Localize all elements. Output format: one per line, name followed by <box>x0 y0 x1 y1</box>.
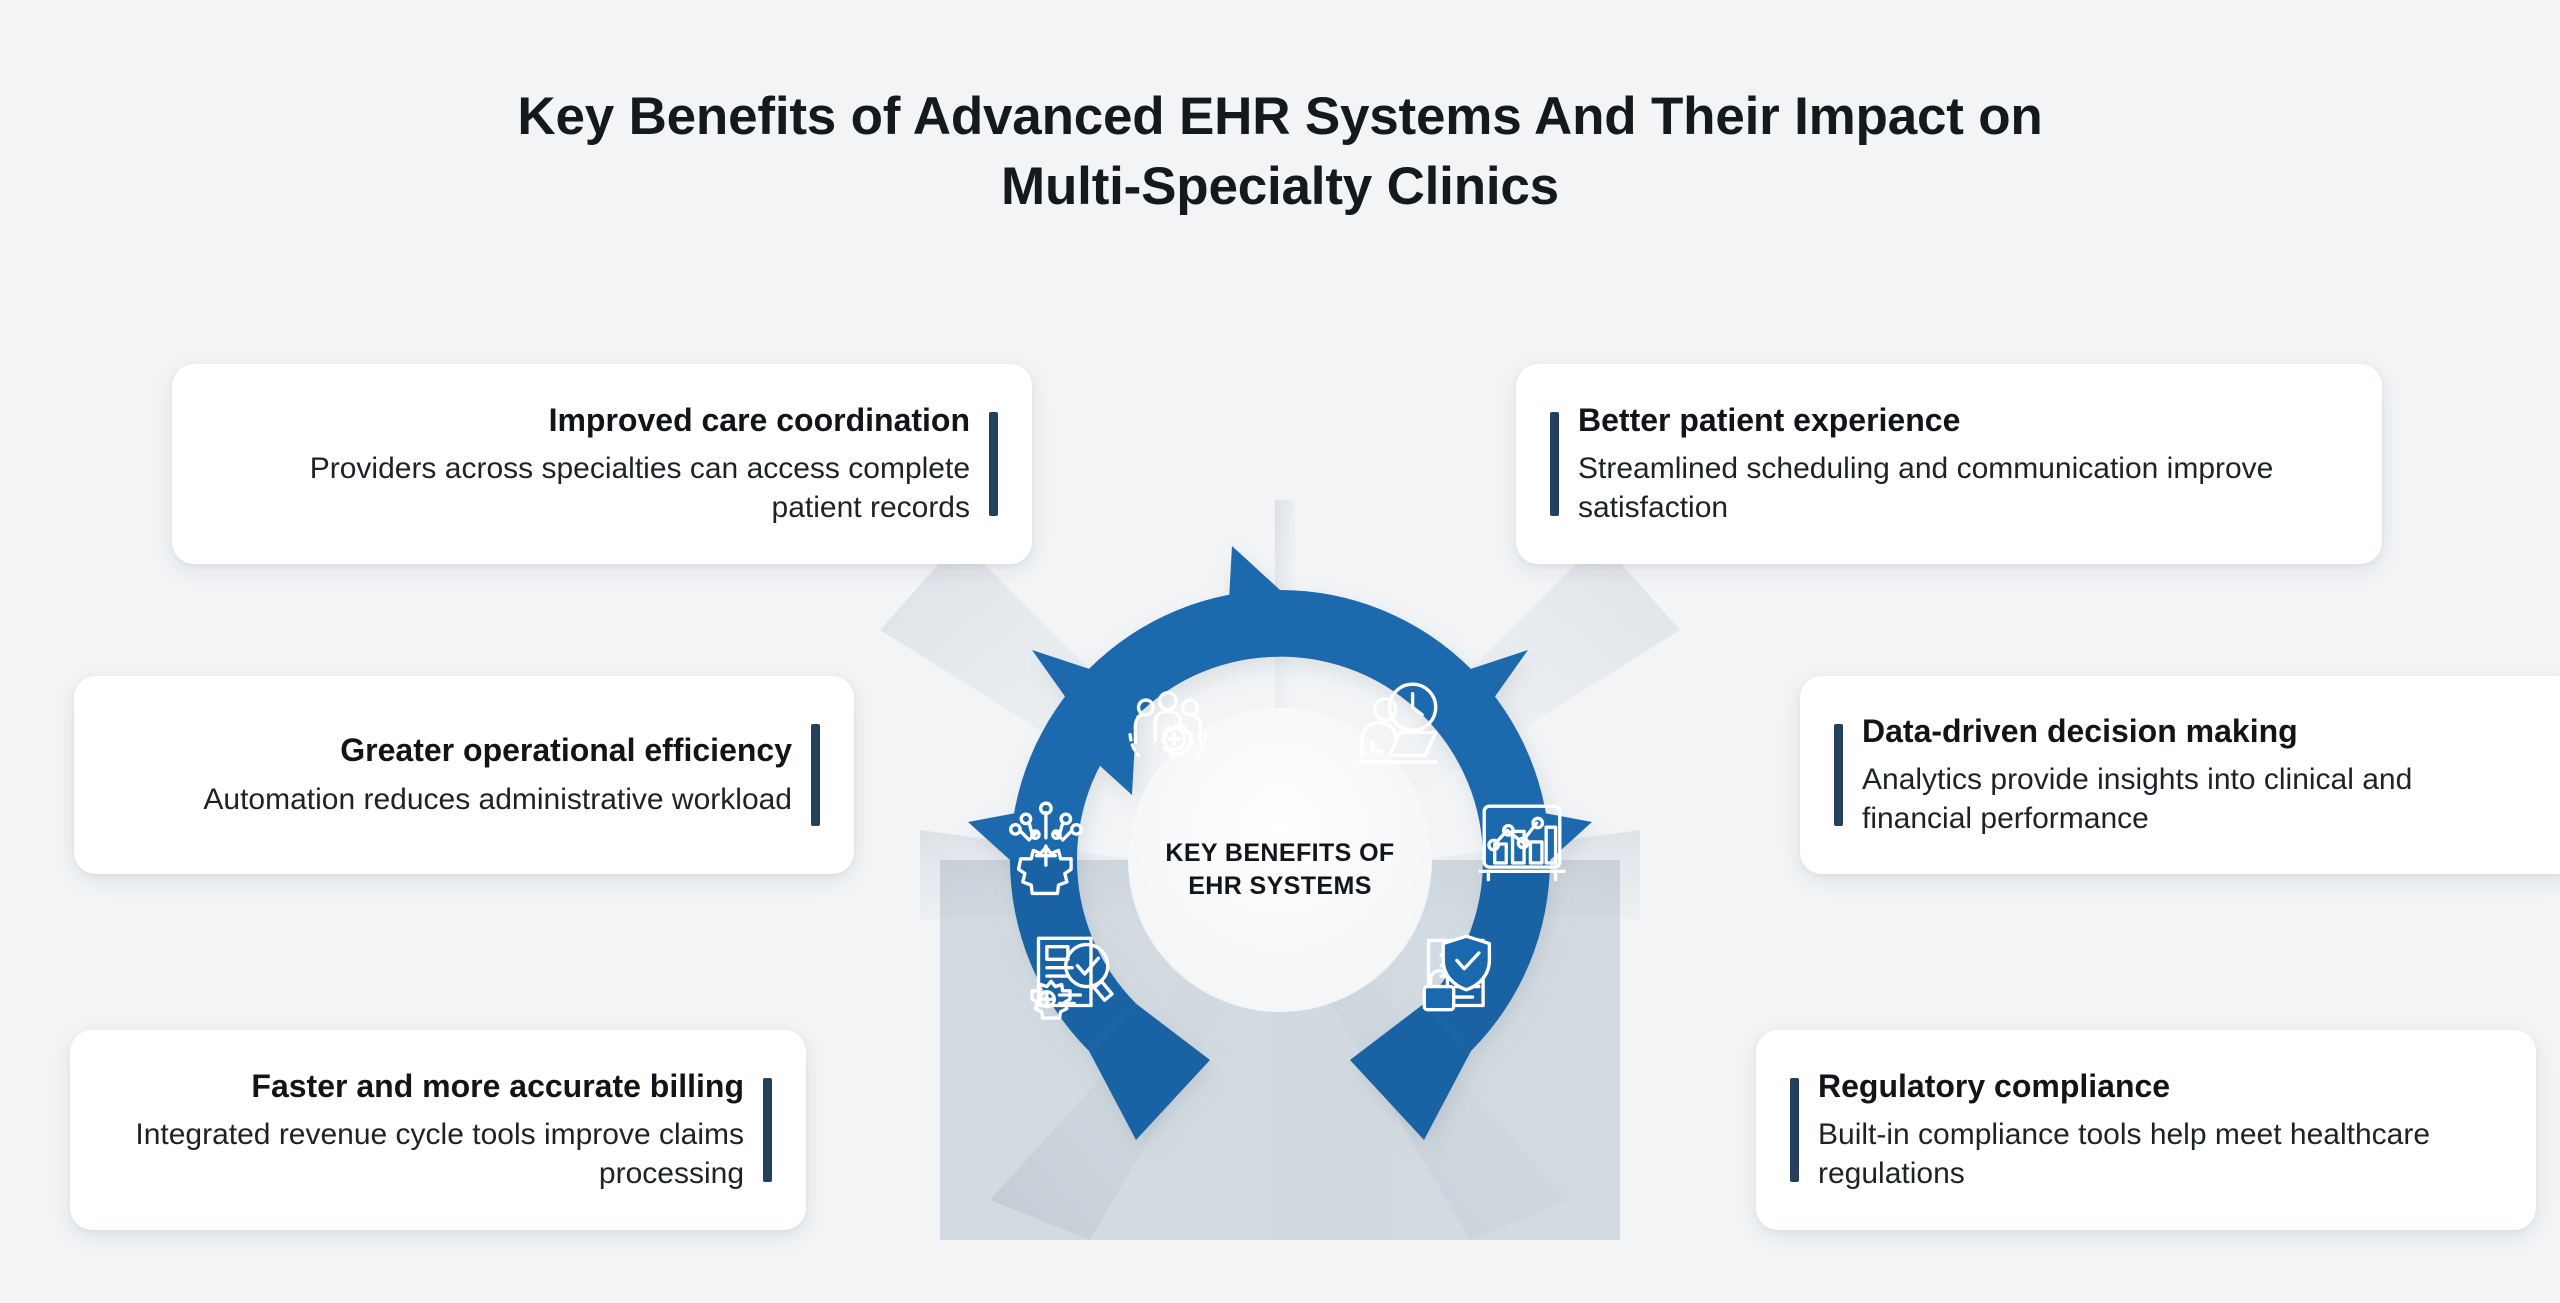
benefit-card-better-patient-experience[interactable]: Better patient experience Streamlined sc… <box>1516 364 2382 564</box>
benefit-description: Streamlined scheduling and communication… <box>1578 449 2324 527</box>
benefit-card-greater-operational-efficiency[interactable]: Greater operational efficiency Automatio… <box>74 676 854 874</box>
accent-bar <box>989 412 998 516</box>
benefit-heading: Improved care coordination <box>230 401 970 439</box>
page-title-line2: Multi-Specialty Clinics <box>0 152 2560 222</box>
benefit-card-regulatory-compliance[interactable]: Regulatory compliance Built-in complianc… <box>1756 1030 2536 1230</box>
benefit-heading: Regulatory compliance <box>1818 1067 2478 1105</box>
benefit-description: Built-in compliance tools help meet heal… <box>1818 1115 2478 1193</box>
page-title-line1: Key Benefits of Advanced EHR Systems And… <box>517 87 2042 146</box>
accent-bar <box>1790 1078 1799 1182</box>
benefit-heading: Greater operational efficiency <box>132 731 792 769</box>
benefit-description: Integrated revenue cycle tools improve c… <box>128 1115 744 1193</box>
benefit-heading: Faster and more accurate billing <box>128 1067 744 1105</box>
infographic-stage: Key Benefits of Advanced EHR Systems And… <box>0 0 2560 1303</box>
benefit-card-faster-accurate-billing[interactable]: Faster and more accurate billing Integra… <box>70 1030 806 1230</box>
benefit-description: Providers across specialties can access … <box>230 449 970 527</box>
page-title: Key Benefits of Advanced EHR Systems And… <box>0 82 2560 222</box>
benefit-heading: Data-driven decision making <box>1862 712 2522 750</box>
accent-bar <box>763 1078 772 1182</box>
accent-bar <box>1550 412 1559 516</box>
benefit-description: Analytics provide insights into clinical… <box>1862 760 2522 838</box>
wheel-segment-better-patient-experience[interactable] <box>1280 590 1471 716</box>
accent-bar <box>811 724 820 826</box>
benefit-card-data-driven-decision-making[interactable]: Data-driven decision making Analytics pr… <box>1800 676 2560 874</box>
key-benefits-wheel: KEY BENEFITS OF EHR SYSTEMS <box>880 500 1680 1240</box>
benefit-heading: Better patient experience <box>1578 401 2324 439</box>
benefit-card-improved-care-coordination[interactable]: Improved care coordination Providers acr… <box>172 364 1032 564</box>
accent-bar <box>1834 724 1843 826</box>
benefit-description: Automation reduces administrative worklo… <box>132 780 792 819</box>
wheel-svg <box>880 500 1680 1240</box>
